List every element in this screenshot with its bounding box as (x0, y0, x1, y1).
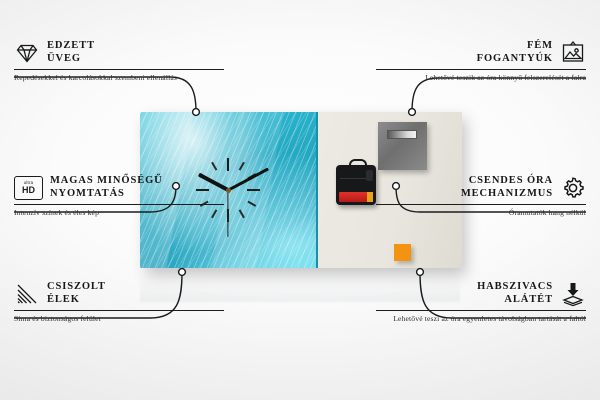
feature-high-quality-print: ultra HD MAGAS MINŐSÉGŰ NYOMTATÁS Intenz… (14, 175, 224, 218)
feature-description: Sima és biztonságos felület (14, 314, 224, 324)
hanger-slot (387, 130, 417, 139)
feature-title: HABSZIVACS ALÁTÉT (477, 281, 553, 307)
polished-edge-icon (14, 281, 40, 307)
feature-title: CSISZOLT ÉLEK (47, 281, 106, 307)
battery-tip (367, 192, 373, 202)
feature-tempered-glass: EDZETT ÜVEG Repedésekkel és karcolásokka… (14, 40, 224, 83)
feature-divider (14, 204, 224, 205)
feature-divider (14, 69, 224, 70)
feature-header: CSISZOLT ÉLEK (14, 281, 224, 307)
clock-center-pin (226, 188, 231, 193)
mechanism-knob (366, 170, 373, 181)
press-down-layers-icon (560, 281, 586, 307)
feature-header: HABSZIVACS ALÁTÉT (376, 281, 586, 307)
feature-foam-pad: HABSZIVACS ALÁTÉT Lehetővé teszi az óra … (376, 281, 586, 324)
feature-title: CSENDES ÓRA MECHANIZMUS (461, 175, 553, 201)
feature-divider (376, 69, 586, 70)
feature-description: Lehetővé teszik az óra könnyű felszerelé… (376, 73, 586, 83)
feature-silent-clock-mechanism: CSENDES ÓRA MECHANIZMUS Óramutatók hang … (376, 175, 586, 218)
gear-icon (560, 175, 586, 201)
feature-divider (376, 310, 586, 311)
feature-header: CSENDES ÓRA MECHANIZMUS (376, 175, 586, 201)
ultra-hd-icon-main: HD (22, 186, 35, 195)
feature-header: ultra HD MAGAS MINŐSÉGŰ NYOMTATÁS (14, 175, 224, 201)
metal-hanger-part (378, 122, 427, 170)
feature-title: FÉM FOGANTYÚK (477, 40, 553, 66)
battery-part (339, 192, 373, 202)
feature-title: EDZETT ÜVEG (47, 40, 95, 66)
diamond-icon (14, 40, 40, 66)
feature-description: Lehetővé teszi az óra egyenletes távolsá… (376, 314, 586, 324)
foam-pad-part (394, 244, 411, 261)
feature-divider (376, 204, 586, 205)
feature-polished-edges: CSISZOLT ÉLEK Sima és biztonságos felüle… (14, 281, 224, 324)
feature-metal-handles: FÉM FOGANTYÚK Lehetővé teszik az óra kön… (376, 40, 586, 83)
feature-title: MAGAS MINŐSÉGŰ NYOMTATÁS (50, 175, 163, 201)
feature-description: Óramutatók hang nélkül (376, 208, 586, 218)
feature-header: EDZETT ÜVEG (14, 40, 224, 66)
clock-mechanism-part (336, 165, 376, 205)
feature-description: Intenzív színek és éles kép (14, 208, 224, 218)
picture-hanger-icon (560, 40, 586, 66)
feature-description: Repedésekkel és karcolásokkal szembeni e… (14, 73, 224, 83)
ultra-hd-icon: ultra HD (14, 176, 43, 200)
mechanism-loop (349, 159, 367, 170)
feature-header: FÉM FOGANTYÚK (376, 40, 586, 66)
infographic-canvas: EDZETT ÜVEG Repedésekkel és karcolásokka… (0, 0, 600, 400)
feature-divider (14, 310, 224, 311)
